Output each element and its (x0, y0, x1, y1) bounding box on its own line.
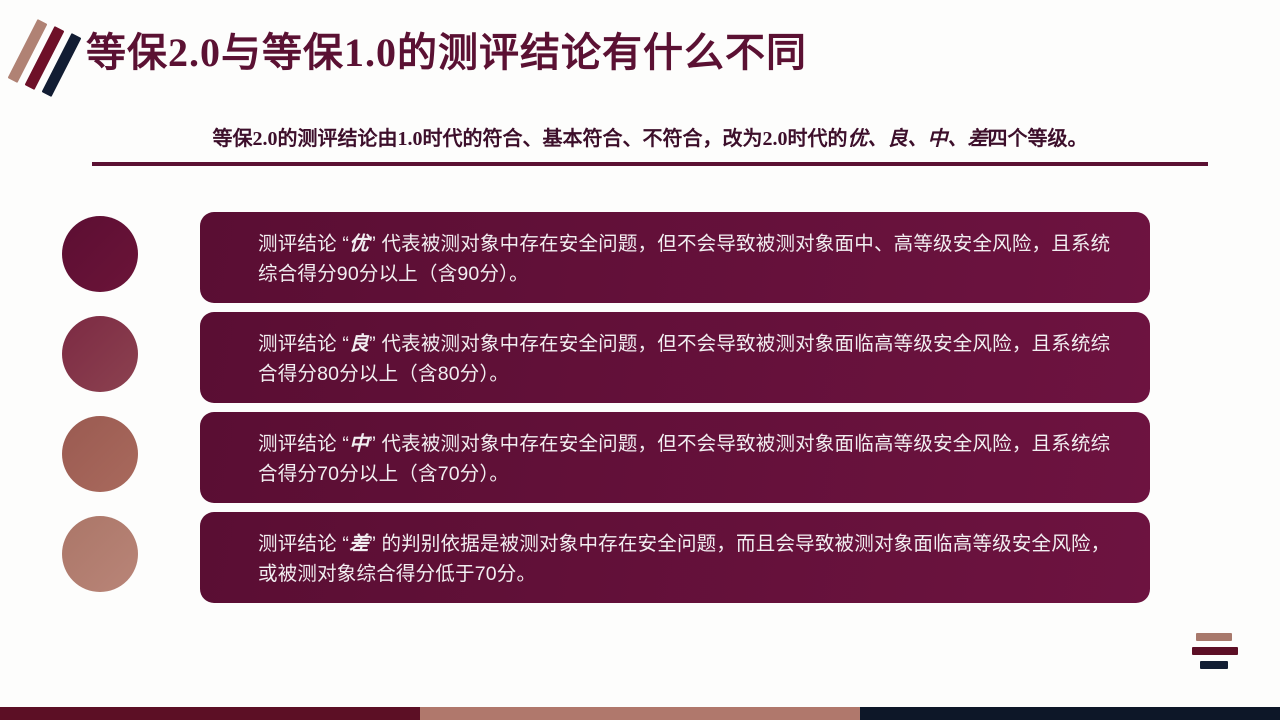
card-grade-label: 优 (349, 233, 369, 255)
card-grade-label: 差 (349, 533, 369, 555)
bar-2 (1192, 647, 1238, 655)
subtitle-lead: 等保2.0的测评结论由1.0时代的符合、基本符合、不符合，改为2.0时代的 (213, 128, 848, 150)
grade-row: 测评结论 “中” 代表被测对象中存在安全问题，但不会导致被测对象面临高等级安全风… (0, 412, 1280, 512)
grade-rows: 测评结论 “优” 代表被测对象中存在安全问题，但不会导致被测对象面中、高等级安全… (0, 212, 1280, 612)
grade-description-card: 测评结论 “中” 代表被测对象中存在安全问题，但不会导致被测对象面临高等级安全风… (200, 412, 1150, 503)
subtitle-block: 等保2.0的测评结论由1.0时代的符合、基本符合、不符合，改为2.0时代的优、良… (92, 122, 1208, 166)
bullet-grade-liang (62, 316, 138, 392)
grade-row: 测评结论 “差” 的判别依据是被测对象中存在安全问题，而且会导致被测对象面临高等… (0, 512, 1280, 612)
segment-navy (860, 707, 1280, 720)
subtitle-grades: 优、良、中、差 (848, 128, 988, 150)
bullet-grade-cha (62, 516, 138, 592)
card-body: ” 代表被测对象中存在安全问题，但不会导致被测对象面中、高等级安全风险，且系统综… (258, 233, 1110, 285)
slide-root: 等保2.0与等保1.0的测评结论有什么不同 等保2.0的测评结论由1.0时代的符… (0, 0, 1280, 720)
page-title: 等保2.0与等保1.0的测评结论有什么不同 (86, 22, 807, 84)
card-prefix: 测评结论 “ (258, 533, 349, 555)
grade-description-card: 测评结论 “差” 的判别依据是被测对象中存在安全问题，而且会导致被测对象面临高等… (200, 512, 1150, 603)
grade-row: 测评结论 “优” 代表被测对象中存在安全问题，但不会导致被测对象面中、高等级安全… (0, 212, 1280, 312)
bar-3 (1200, 661, 1228, 669)
card-body: ” 代表被测对象中存在安全问题，但不会导致被测对象面临高等级安全风险，且系统综合… (258, 333, 1110, 385)
card-prefix: 测评结论 “ (258, 233, 349, 255)
bullet-wrap (0, 212, 200, 292)
triple-bar-ornament (1192, 632, 1238, 674)
subtitle-underline (92, 162, 1208, 166)
bullet-wrap (0, 512, 200, 592)
triple-slash-ornament (18, 18, 80, 96)
segment-maroon (0, 707, 420, 720)
bullet-wrap (0, 312, 200, 392)
subtitle-text: 等保2.0的测评结论由1.0时代的符合、基本符合、不符合，改为2.0时代的优、良… (92, 122, 1208, 156)
grade-description-card: 测评结论 “优” 代表被测对象中存在安全问题，但不会导致被测对象面中、高等级安全… (200, 212, 1150, 303)
card-grade-label: 中 (349, 433, 369, 455)
bullet-grade-you (62, 216, 138, 292)
grade-description-card: 测评结论 “良” 代表被测对象中存在安全问题，但不会导致被测对象面临高等级安全风… (200, 312, 1150, 403)
subtitle-tail: 四个等级。 (988, 128, 1088, 150)
card-body: ” 代表被测对象中存在安全问题，但不会导致被测对象面临高等级安全风险，且系统综合… (258, 433, 1110, 485)
bar-1 (1196, 633, 1232, 641)
card-prefix: 测评结论 “ (258, 433, 349, 455)
bottom-color-strip (0, 707, 1280, 720)
segment-rose (420, 707, 860, 720)
bullet-wrap (0, 412, 200, 492)
grade-row: 测评结论 “良” 代表被测对象中存在安全问题，但不会导致被测对象面临高等级安全风… (0, 312, 1280, 412)
bullet-grade-zhong (62, 416, 138, 492)
card-body: ” 的判别依据是被测对象中存在安全问题，而且会导致被测对象面临高等级安全风险，或… (258, 533, 1110, 585)
card-grade-label: 良 (349, 333, 369, 355)
card-prefix: 测评结论 “ (258, 333, 349, 355)
